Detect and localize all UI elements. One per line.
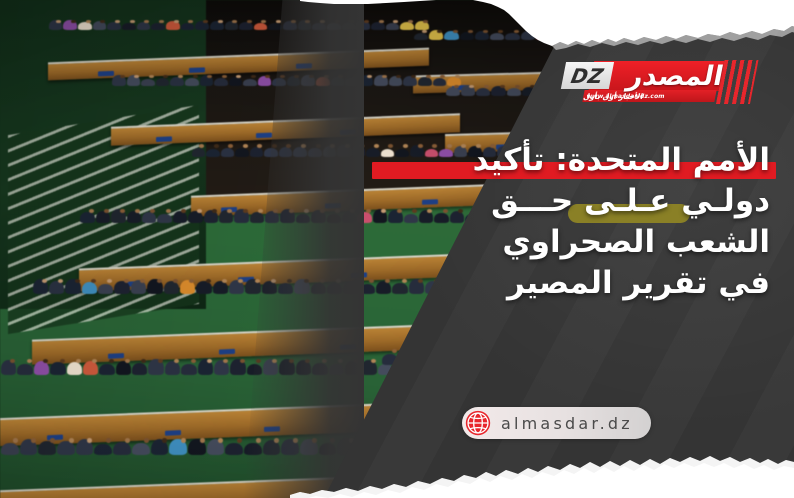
headline-line-4: في تقرير المصير: [360, 263, 770, 304]
headline-line-3: الشعب الصحراوي: [360, 222, 770, 263]
logo-url-text: www.almasdar-dz.com: [585, 91, 665, 102]
site-logo[interactable]: DZ المصدر الأخبار أول بأول www.almasdar-…: [556, 57, 756, 109]
site-url-label: almasdar.dz: [493, 414, 633, 433]
headline-line-3-text: الشعب الصحراوي: [502, 224, 770, 260]
logo-dz-text: DZ: [569, 64, 606, 88]
globe-icon: [463, 408, 493, 438]
headline-line-1: الأمم المتحدة: تأكيد: [360, 140, 770, 181]
headline: الأمم المتحدة: تأكيد دولـي عـلـى حـــق ا…: [360, 140, 770, 304]
headline-line-2-text: دولـي عـلـى حـــق: [491, 183, 770, 219]
site-url-badge[interactable]: almasdar.dz: [462, 407, 651, 439]
news-card: DZ المصدر الأخبار أول بأول www.almasdar-…: [0, 0, 794, 498]
headline-line-1-text: الأمم المتحدة: تأكيد: [473, 142, 770, 178]
headline-line-2: دولـي عـلـى حـــق: [360, 181, 770, 222]
logo-arabic-word: المصدر: [608, 59, 743, 93]
logo-dz-plate: DZ: [561, 62, 614, 89]
headline-line-4-text: في تقرير المصير: [507, 265, 770, 301]
logo-shapes: DZ المصدر الأخبار أول بأول www.almasdar-…: [551, 57, 761, 109]
